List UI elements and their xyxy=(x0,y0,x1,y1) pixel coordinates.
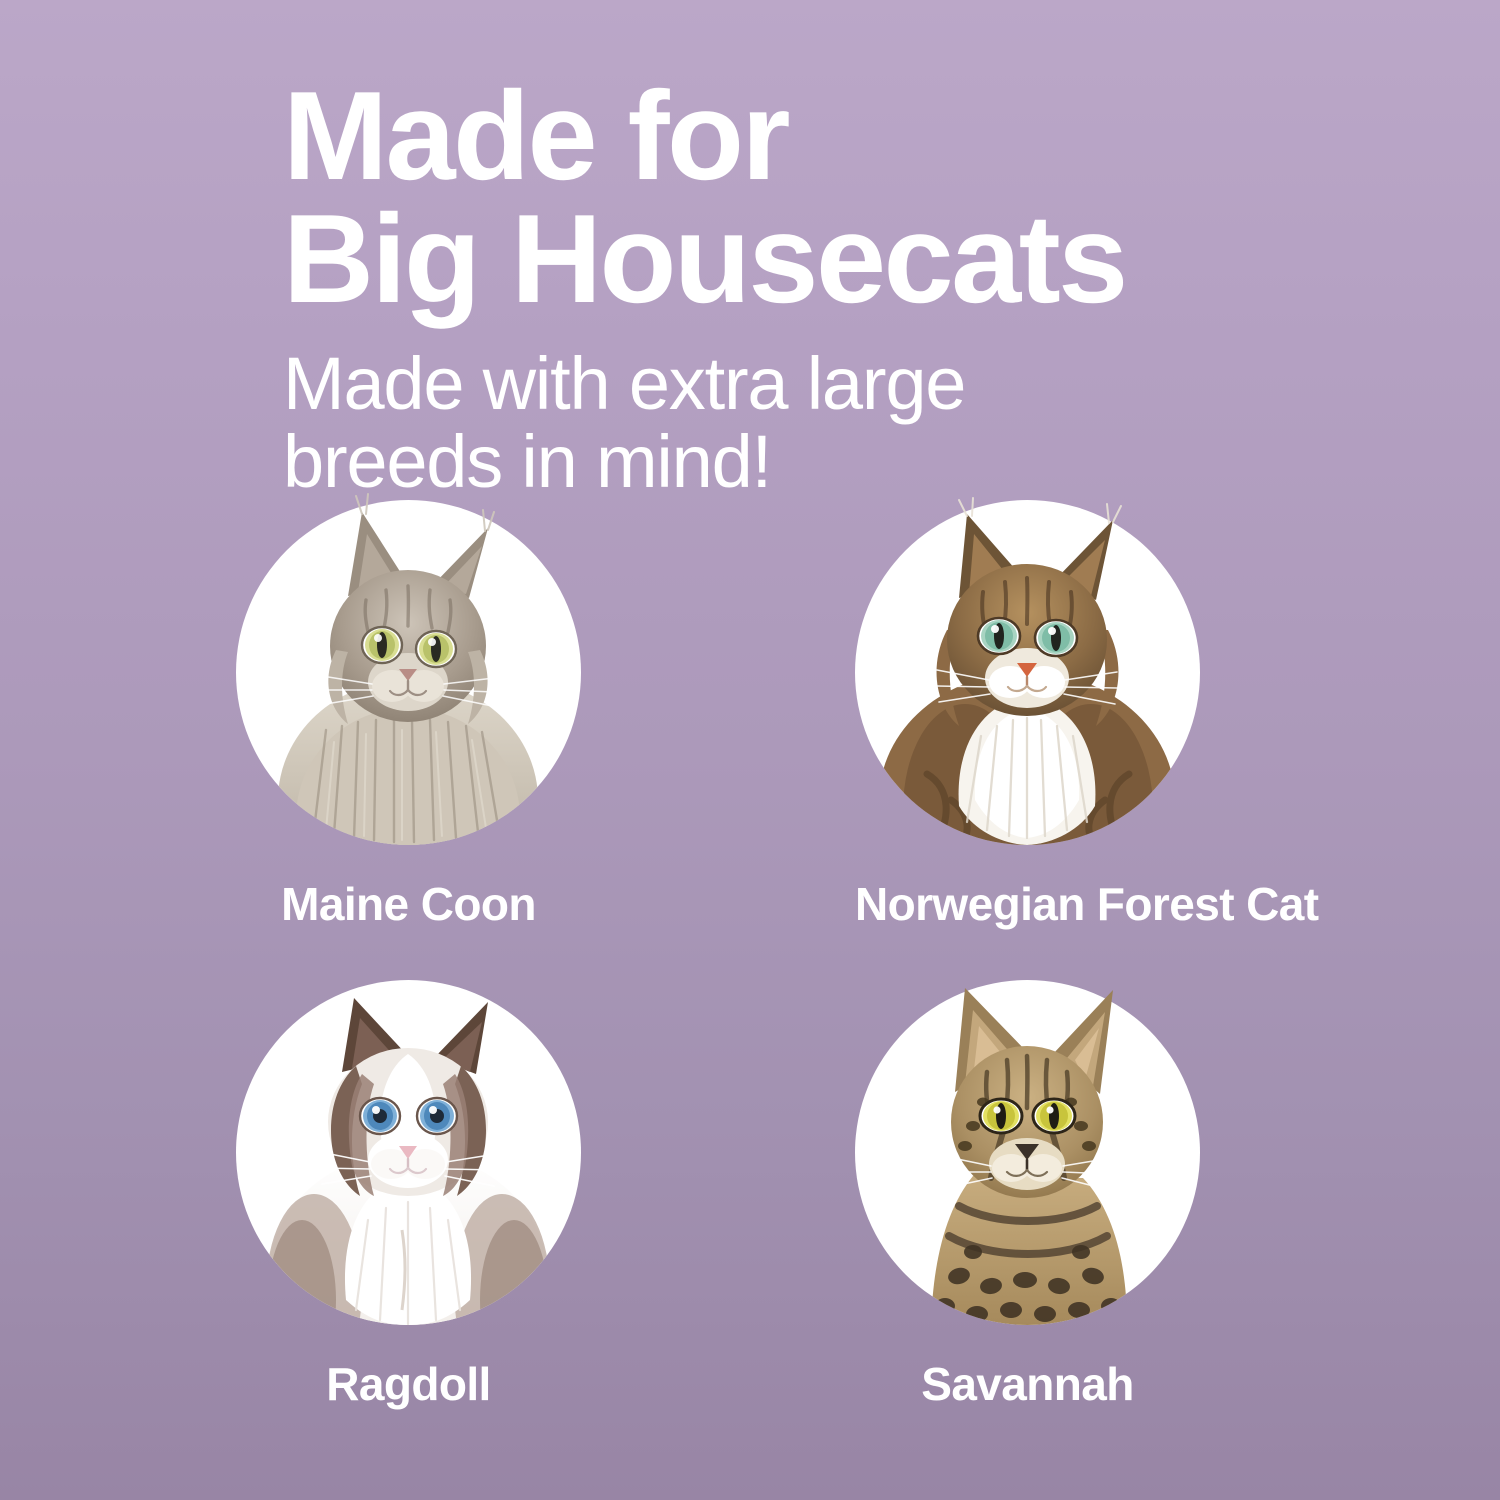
breed-photo-circle xyxy=(855,980,1200,1325)
breed-label: Maine Coon xyxy=(236,881,581,927)
breed-photo-circle xyxy=(236,500,581,845)
page-subtitle: Made with extra large breeds in mind! xyxy=(283,345,1283,500)
breed-card-savannah: Savannah xyxy=(855,980,1200,1407)
page-title: Made for Big Housecats xyxy=(283,74,1283,321)
breed-label: Ragdoll xyxy=(236,1361,581,1407)
breed-card-norwegian-forest-cat: Norwegian Forest Cat xyxy=(855,500,1200,927)
breed-row: Maine Coon xyxy=(0,500,1500,980)
norwegian-forest-cat-photo xyxy=(855,500,1200,845)
savannah-photo xyxy=(855,980,1200,1325)
breed-photo-circle xyxy=(855,500,1200,845)
promo-banner: Made for Big Housecats Made with extra l… xyxy=(0,0,1500,1500)
breed-card-maine-coon: Maine Coon xyxy=(236,500,581,927)
breed-photo-circle xyxy=(236,980,581,1325)
breed-card-ragdoll: Ragdoll xyxy=(236,980,581,1407)
headline-block: Made for Big Housecats Made with extra l… xyxy=(283,74,1283,500)
maine-coon-photo xyxy=(236,500,581,845)
ragdoll-photo xyxy=(236,980,581,1325)
breed-grid: Maine Coon xyxy=(0,500,1500,1460)
breed-row: Ragdoll xyxy=(0,980,1500,1460)
breed-label: Savannah xyxy=(855,1361,1200,1407)
breed-label: Norwegian Forest Cat xyxy=(855,881,1200,927)
